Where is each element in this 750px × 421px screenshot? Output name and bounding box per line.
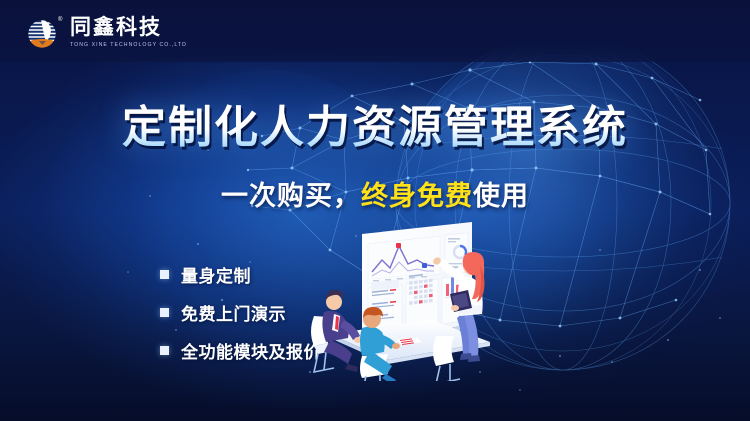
brand-logo[interactable]: ® 同鑫科技 TONG XINE TECHNOLOGY CO.,LTD bbox=[27, 17, 187, 51]
feature-label: 免费上门演示 bbox=[181, 300, 286, 325]
registered-trademark-icon: ® bbox=[58, 17, 62, 23]
square-bullet-icon bbox=[160, 346, 169, 355]
brand-name-en: TONG XINE TECHNOLOGY CO.,LTD bbox=[70, 42, 187, 48]
subtitle-highlight: 终身免费 bbox=[361, 181, 473, 212]
list-item: 量身定制 bbox=[160, 262, 321, 287]
feature-label: 量身定制 bbox=[181, 262, 251, 287]
promotional-banner: ® 同鑫科技 TONG XINE TECHNOLOGY CO.,LTD 定制化人… bbox=[0, 0, 750, 421]
list-item: 免费上门演示 bbox=[160, 300, 321, 325]
subtitle-suffix: 使用 bbox=[473, 181, 529, 212]
business-presentation-dashboard-illustration bbox=[300, 216, 550, 381]
page-subtitle: 一次购买，终身免费使用 bbox=[0, 174, 750, 213]
square-bullet-icon bbox=[160, 270, 169, 279]
tongxin-sail-globe-logo-icon: ® bbox=[27, 17, 61, 51]
feature-list: 量身定制 免费上门演示 全功能模块及报价 bbox=[160, 262, 321, 376]
header-bar: ® 同鑫科技 TONG XINE TECHNOLOGY CO.,LTD bbox=[0, 0, 750, 62]
subtitle-prefix: 一次购买， bbox=[221, 181, 361, 212]
brand-name-cn: 同鑫科技 bbox=[70, 16, 187, 38]
square-bullet-icon bbox=[160, 308, 169, 317]
seated-man-suit bbox=[311, 290, 362, 372]
list-item: 全功能模块及报价 bbox=[160, 338, 321, 363]
page-title: 定制化人力资源管理系统 bbox=[0, 103, 750, 153]
